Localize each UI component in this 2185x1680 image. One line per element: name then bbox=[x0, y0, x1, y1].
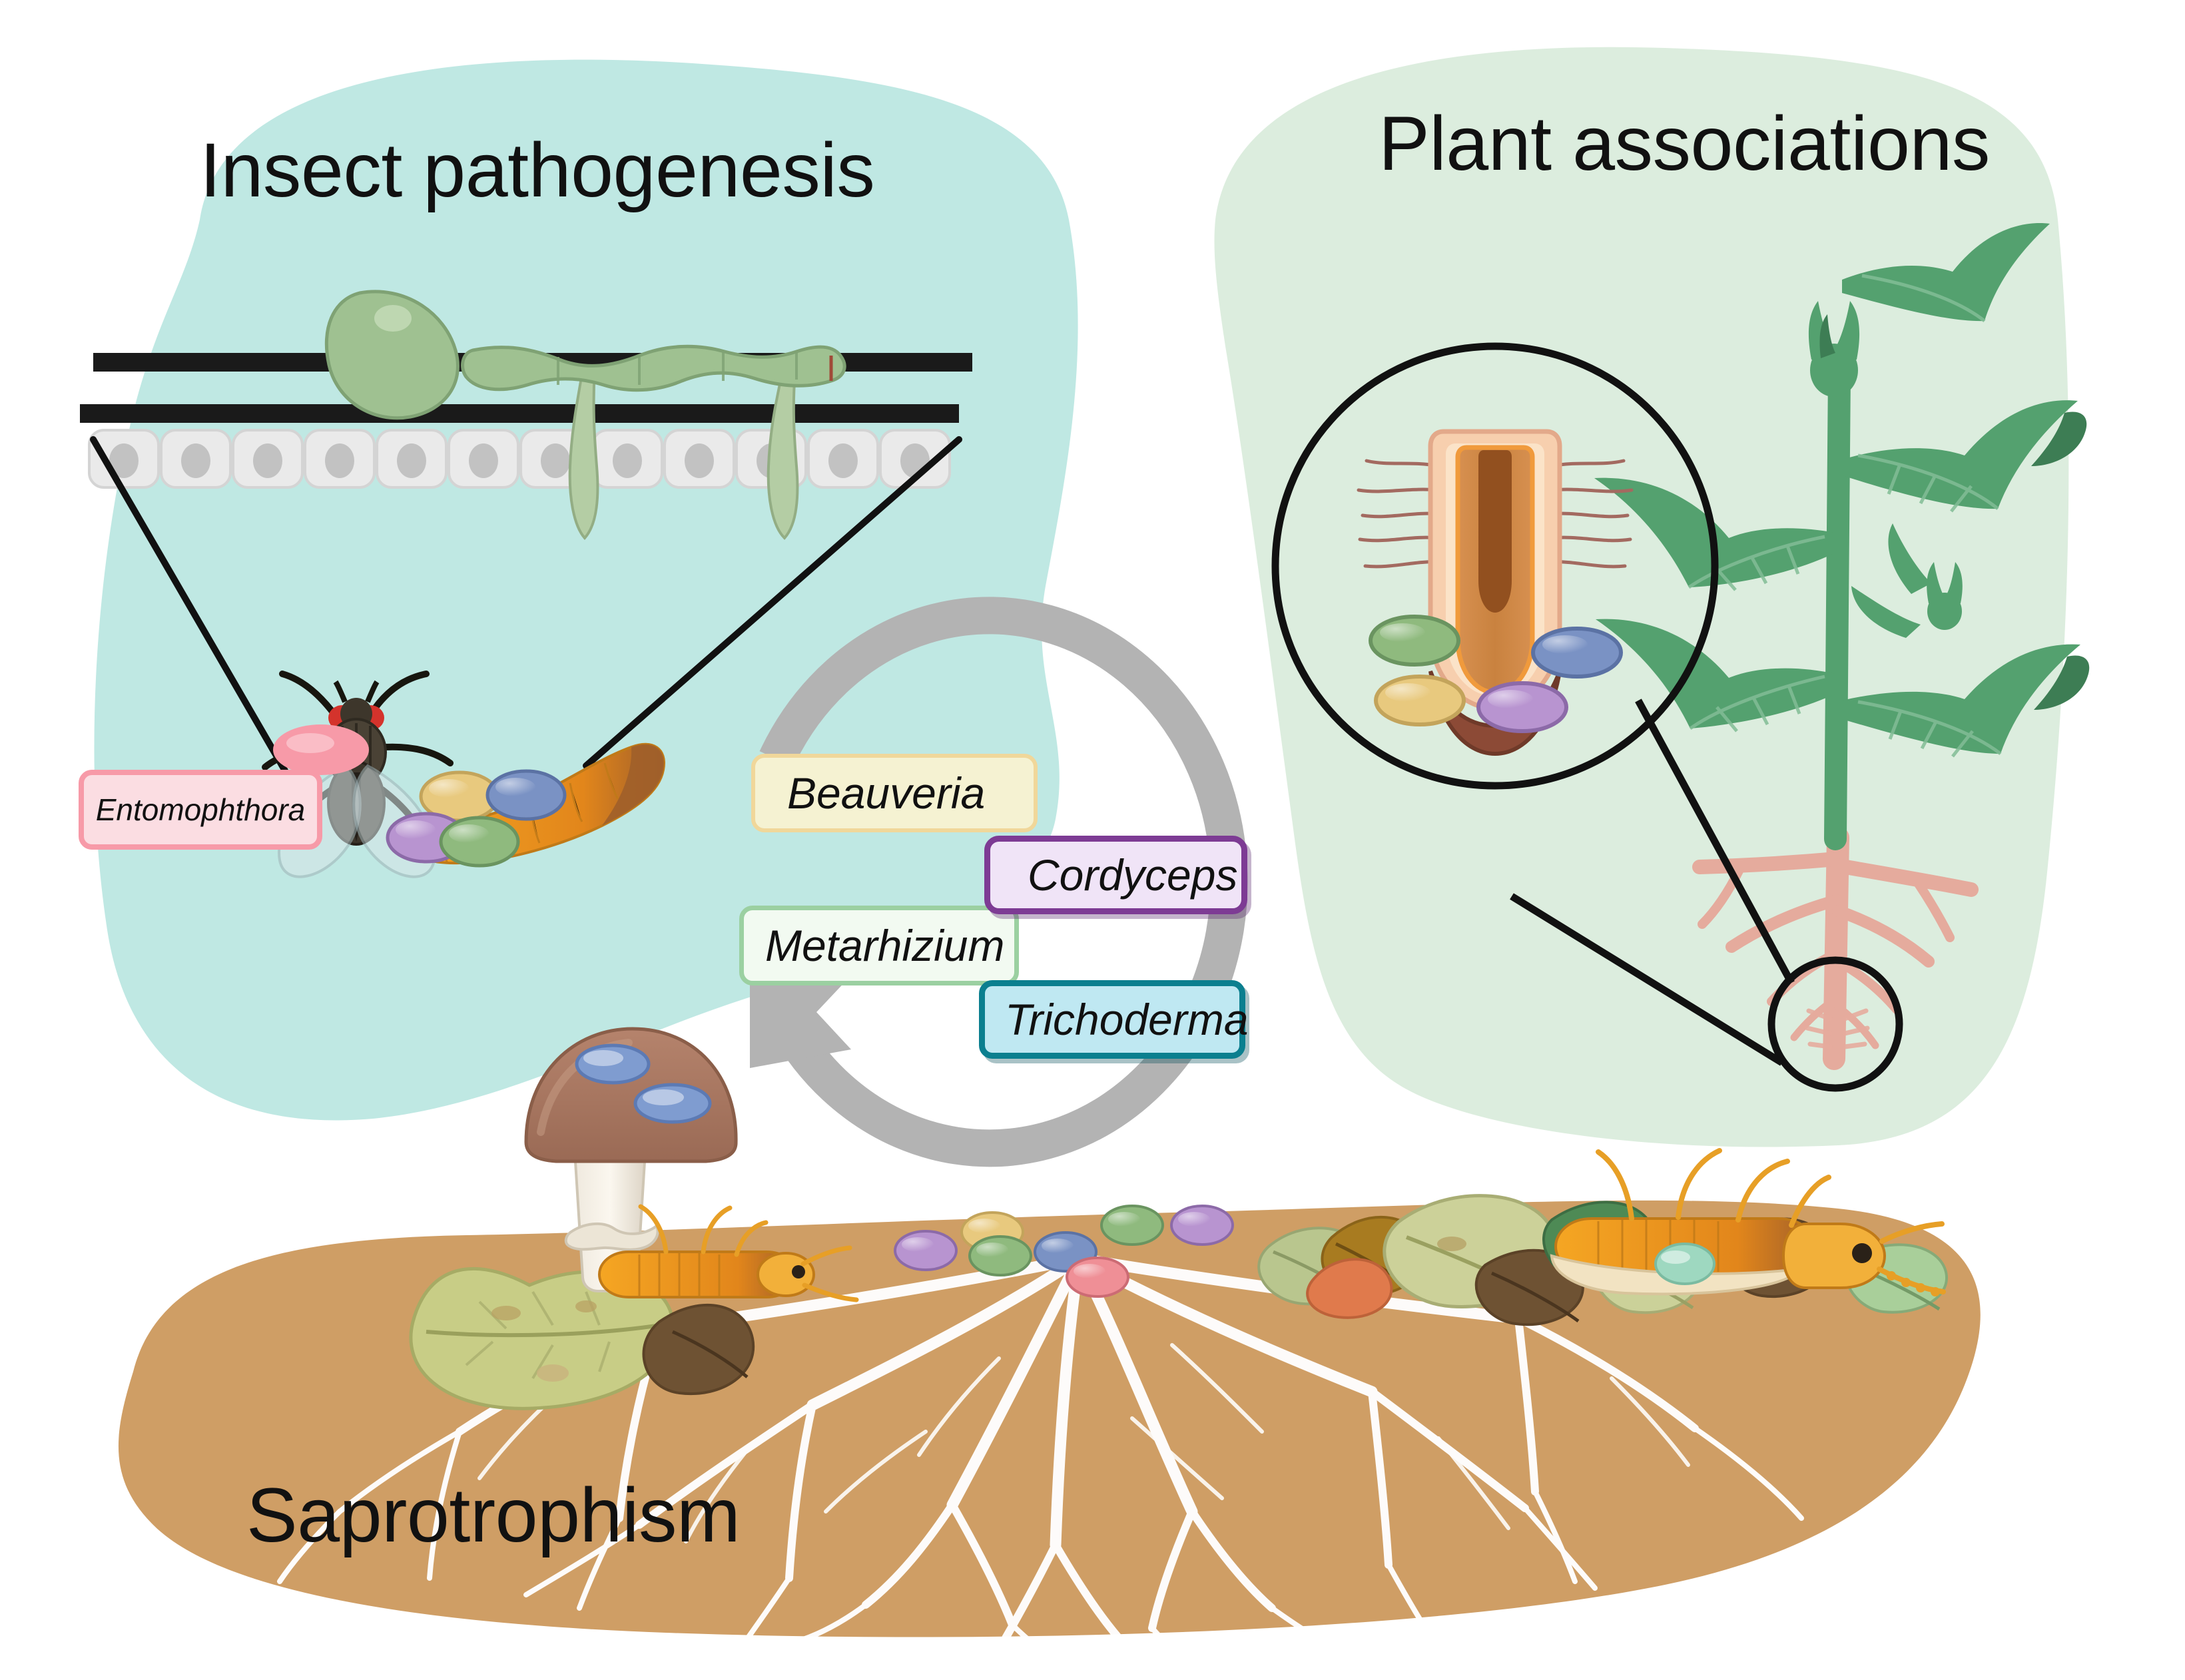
genus-label-trichoderma-text: Trichoderma bbox=[1005, 994, 1239, 1045]
panel-title-plant-associations: Plant associations bbox=[1379, 100, 1990, 188]
panel-title-insect-pathogenesis: Insect pathogenesis bbox=[200, 127, 874, 214]
callout-label-entomophthora[interactable]: Entomophthora bbox=[79, 770, 322, 850]
genus-label-beauveria[interactable]: Beauveria bbox=[751, 754, 1038, 832]
genus-label-metarhizium-text: Metarhizium bbox=[765, 920, 1014, 971]
genus-label-beauveria-text: Beauveria bbox=[787, 768, 1034, 818]
callout-label-entomophthora-text: Entomophthora bbox=[96, 792, 306, 828]
panel-title-saprotrophism: Saprotrophism bbox=[246, 1472, 740, 1559]
genus-label-metarhizium[interactable]: Metarhizium bbox=[739, 906, 1019, 985]
genus-label-cordyceps[interactable]: Cordyceps bbox=[984, 836, 1247, 914]
genus-label-cordyceps-text: Cordyceps bbox=[1028, 850, 1241, 900]
genus-label-trichoderma[interactable]: Trichoderma bbox=[979, 980, 1245, 1059]
figure-canvas: Insect pathogenesis Plant associations S… bbox=[0, 0, 2185, 1680]
